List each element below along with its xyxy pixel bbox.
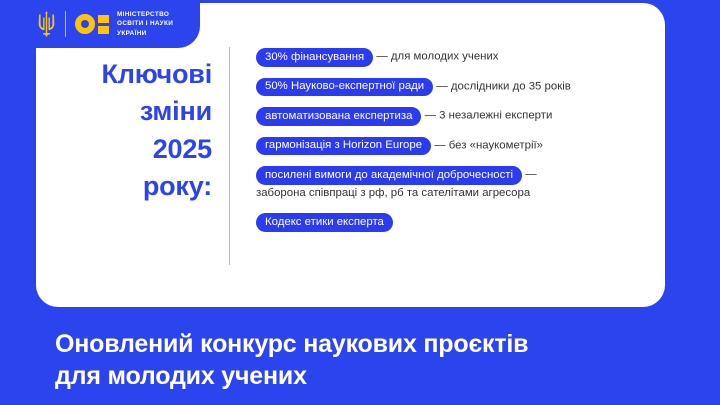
ministry-name-line2: ОСВІТИ І НАУКИ [117,19,173,28]
highlight-pill: Кодекс етики експерта [256,213,393,232]
highlight-pill: посилені вимоги до академічної доброчесн… [256,166,522,185]
ministry-name: МІНІСТЕРСТВО ОСВІТИ І НАУКИ УКРАЇНИ [117,10,173,37]
list-item: Кодекс етики експерта [256,213,651,232]
highlight-pill: автоматизована експертиза [256,107,421,126]
slide-canvas: МІНІСТЕРСТВО ОСВІТИ І НАУКИ УКРАЇНИ Ключ… [0,0,720,405]
highlight-pill: 30% фінансування [256,48,373,67]
list-item-text: — [525,169,536,181]
list-item: гармонізація з Horizon Europe — без «нау… [256,137,651,156]
page-title: Ключові зміни 2025 року: [52,56,212,205]
list-item: автоматизована експертиза — 3 незалежні … [256,107,651,126]
page-title-line3: 2025 [52,131,212,168]
list-item-text: — для молодих учених [376,51,498,63]
list-item: посилені вимоги до академічної доброчесн… [256,166,651,202]
key-changes-list: 30% фінансування — для молодих учених 50… [256,48,651,232]
ministry-name-line3: УКРАЇНИ [117,29,173,38]
list-item: 30% фінансування — для молодих учених [256,48,651,67]
ukraine-trident-icon [38,11,55,37]
highlight-pill: 50% Науково-експертної ради [256,78,433,97]
ministry-logo: МІНІСТЕРСТВО ОСВІТИ І НАУКИ УКРАЇНИ [0,0,232,48]
footer-headline-line2: для молодих учених [55,360,695,392]
mon-emblem-icon [75,14,109,34]
emblem-bars [98,15,109,34]
footer-headline-line1: Оновлений конкурс наукових проєктів [55,328,695,360]
list-item-text: — без «наукометрії» [434,139,543,151]
vertical-divider [229,47,230,265]
logo-divider [65,11,66,37]
page-title-line2: зміни [52,93,212,130]
page-title-line4: року: [52,168,212,205]
footer-headline: Оновлений конкурс наукових проєктів для … [55,328,695,392]
ministry-name-line1: МІНІСТЕРСТВО [117,10,173,19]
emblem-circle [75,14,95,34]
list-item-text: — дослідники до 35 років [436,80,570,92]
list-item-text-second-line: заборона співпраці з рф, рб та сателітам… [256,185,651,203]
highlight-pill: гармонізація з Horizon Europe [256,137,431,156]
list-item: 50% Науково-експертної ради — дослідники… [256,78,651,97]
page-title-line1: Ключові [52,56,212,93]
list-item-text: — 3 незалежні експерти [425,110,553,122]
